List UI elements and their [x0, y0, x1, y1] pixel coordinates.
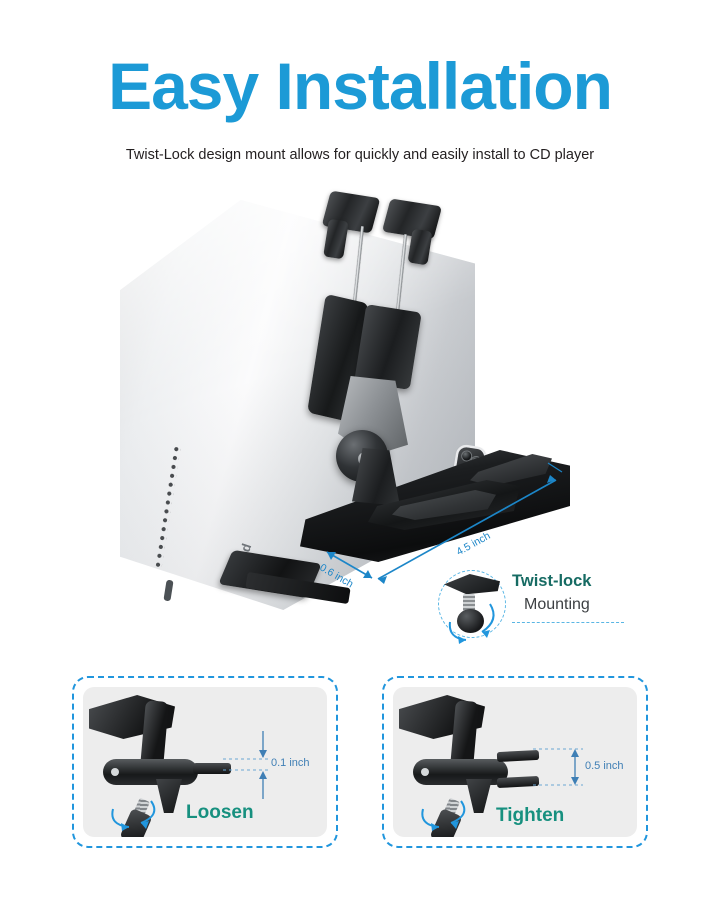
hero-product-image: iPad 4.5 inch 0.6 inch [0, 180, 720, 650]
mount-arm-vertical [450, 700, 479, 768]
twist-lock-divider [512, 622, 624, 623]
step-label-tighten: Tighten [496, 805, 564, 827]
step-panel-tighten-inner: 0.5 inch Tighten [393, 687, 637, 837]
rotation-arrow-icon [438, 586, 508, 642]
mount-arm-vertical [140, 700, 169, 768]
mount-prong-upper [497, 750, 539, 762]
step-panel-tighten: 0.5 inch Tighten [382, 676, 648, 848]
page-title: Easy Installation [0, 48, 720, 124]
step-label-loosen: Loosen [186, 802, 254, 824]
mount-knob-head [429, 808, 462, 837]
step-panel-loosen-inner: 0.1 inch Loosen [83, 687, 327, 837]
mount-knob-head [119, 808, 152, 837]
dimension-label-tighten: 0.5 inch [585, 760, 624, 772]
step-panel-loosen: 0.1 inch Loosen [72, 676, 338, 848]
mount-prong [193, 763, 231, 774]
mount-arm-pivot-hole [421, 768, 429, 776]
mount-arm-pivot-hole [111, 768, 119, 776]
twist-lock-badge: Twist-lock Mounting [438, 568, 688, 642]
dimension-label-loosen: 0.1 inch [271, 757, 310, 769]
twist-lock-title: Twist-lock [512, 572, 591, 591]
twist-lock-subtitle: Mounting [524, 596, 590, 614]
mount-prong-lower [497, 776, 539, 788]
page-subtitle: Twist-Lock design mount allows for quick… [0, 147, 720, 163]
